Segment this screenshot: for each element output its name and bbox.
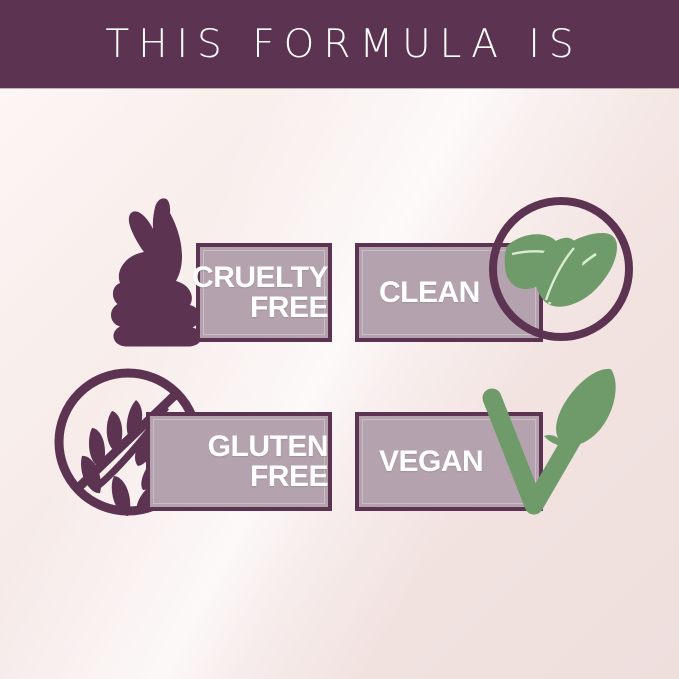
- badge-label-line2: FREE: [250, 291, 328, 324]
- badge-gluten-free: GLUTEN FREE: [146, 412, 332, 511]
- badge-label-gluten-free: GLUTEN FREE: [198, 432, 328, 491]
- header-banner: THIS FORMULA IS: [0, 0, 679, 88]
- badge-cruelty-free: CRUELTY FREE: [196, 243, 332, 342]
- badge-label-vegan: VEGAN: [379, 447, 483, 476]
- badge-vegan: VEGAN: [355, 412, 543, 511]
- badge-label-clean: CLEAN: [379, 278, 480, 307]
- badge-label-line1: CRUELTY: [192, 261, 328, 294]
- badge-label-line1: CLEAN: [379, 276, 480, 309]
- badge-label-cruelty-free: CRUELTY FREE: [186, 263, 328, 322]
- badge-clean: CLEAN: [355, 243, 543, 342]
- background-gradient: [0, 0, 679, 679]
- page-title: THIS FORMULA IS: [96, 25, 582, 64]
- badge-label-line1: VEGAN: [379, 445, 483, 478]
- badge-label-line2: FREE: [250, 460, 328, 493]
- badge-label-line1: GLUTEN: [208, 430, 328, 463]
- infographic-canvas: THIS FORMULA IS: [0, 0, 679, 679]
